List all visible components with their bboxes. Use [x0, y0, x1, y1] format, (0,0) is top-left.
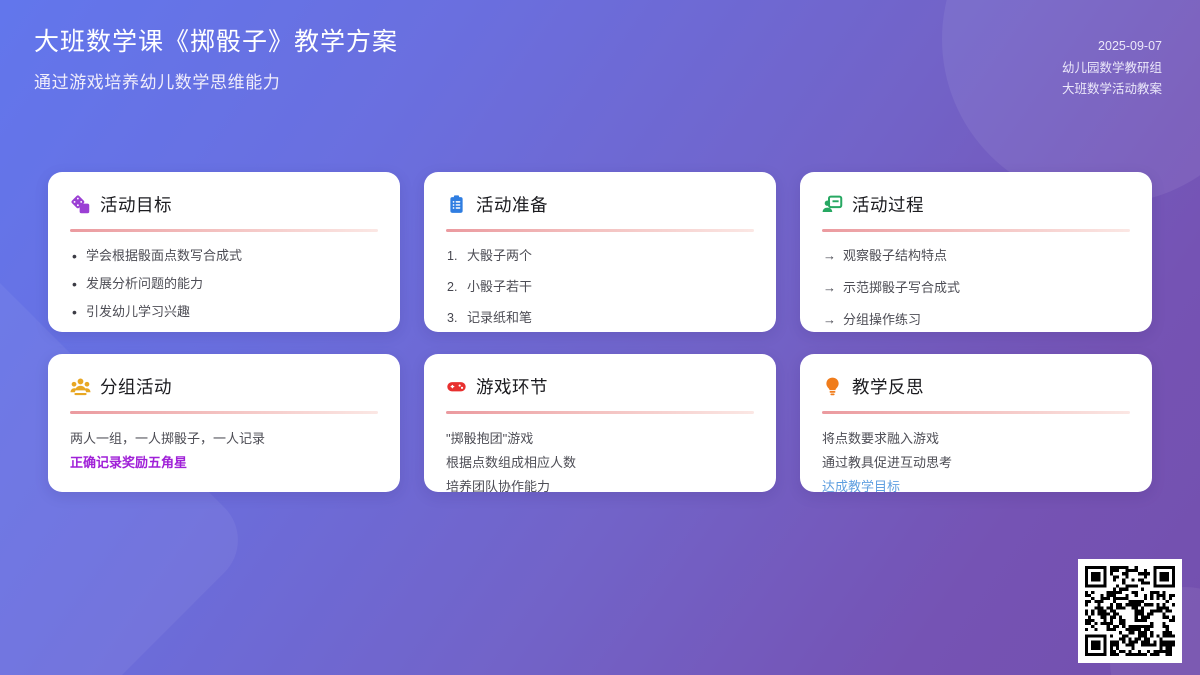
card-header: 活动过程 [822, 192, 1130, 217]
card-list: 将点数要求融入游戏通过教具促进互动思考达成教学目标 [822, 429, 1130, 492]
card-title: 活动过程 [852, 192, 924, 217]
list-item: 大骰子两个 [446, 247, 754, 266]
card-body: 将点数要求融入游戏通过教具促进互动思考达成教学目标 [822, 429, 1130, 492]
list-item: 小骰子若干 [446, 278, 754, 297]
card-list: 两人一组，一人掷骰子，一人记录正确记录奖励五角星 [70, 429, 378, 473]
list-item: 通过教具促进互动思考 [822, 453, 1130, 473]
list-item: 发展分析问题的能力 [70, 275, 378, 294]
card-grid: 活动目标学会根据骰面点数写合成式发展分析问题的能力引发幼儿学习兴趣活动准备大骰子… [48, 172, 1152, 492]
card-list: "掷骰抱团"游戏根据点数组成相应人数培养团队协作能力 [446, 429, 754, 492]
list-item: 培养团队协作能力 [446, 477, 754, 492]
card-title: 教学反思 [852, 374, 924, 399]
list-item: 正确记录奖励五角星 [70, 453, 378, 473]
card-3: 活动过程观察骰子结构特点示范掷骰子写合成式分组操作练习 [800, 172, 1152, 332]
list-item: "掷骰抱团"游戏 [446, 429, 754, 449]
card-divider [446, 411, 754, 414]
card-body: 学会根据骰面点数写合成式发展分析问题的能力引发幼儿学习兴趣 [70, 247, 378, 322]
card-divider [822, 229, 1130, 232]
header-date: 2025-09-07 [1062, 36, 1162, 58]
list-item: 将点数要求融入游戏 [822, 429, 1130, 449]
card-header: 分组活动 [70, 374, 378, 399]
list-item: 达成教学目标 [822, 477, 1130, 492]
card-list: 观察骰子结构特点示范掷骰子写合成式分组操作练习 [822, 247, 1130, 330]
card-divider [70, 411, 378, 414]
people-group-icon [70, 376, 91, 397]
lightbulb-icon [822, 376, 843, 397]
list-item: 记录纸和笔 [446, 309, 754, 328]
dice-icon [70, 194, 91, 215]
page-subtitle: 通过游戏培养幼儿数学思维能力 [34, 68, 398, 93]
qr-code-image [1085, 566, 1175, 656]
card-title: 活动准备 [476, 192, 548, 217]
header-org: 幼儿园数学教研组 [1062, 58, 1162, 80]
card-body: 两人一组，一人掷骰子，一人记录正确记录奖励五角星 [70, 429, 378, 473]
qr-code[interactable] [1078, 559, 1182, 663]
card-body: 观察骰子结构特点示范掷骰子写合成式分组操作练习 [822, 247, 1130, 330]
list-item: 学会根据骰面点数写合成式 [70, 247, 378, 266]
card-divider [446, 229, 754, 232]
clipboard-icon [446, 194, 467, 215]
card-6: 教学反思将点数要求融入游戏通过教具促进互动思考达成教学目标 [800, 354, 1152, 492]
list-item: 观察骰子结构特点 [822, 247, 1130, 266]
list-item: 根据点数组成相应人数 [446, 453, 754, 473]
card-title: 游戏环节 [476, 374, 548, 399]
list-item: 引发幼儿学习兴趣 [70, 303, 378, 322]
card-divider [70, 229, 378, 232]
header-doc-type: 大班数学活动教案 [1062, 79, 1162, 101]
card-header: 教学反思 [822, 374, 1130, 399]
card-list: 学会根据骰面点数写合成式发展分析问题的能力引发幼儿学习兴趣 [70, 247, 378, 322]
card-title: 活动目标 [100, 192, 172, 217]
list-item: 分组操作练习 [822, 311, 1130, 330]
header-meta: 2025-09-07 幼儿园数学教研组 大班数学活动教案 [1062, 26, 1166, 101]
card-title: 分组活动 [100, 374, 172, 399]
card-header: 游戏环节 [446, 374, 754, 399]
slide-header: 大班数学课《掷骰子》教学方案 通过游戏培养幼儿数学思维能力 2025-09-07… [0, 0, 1200, 150]
card-header: 活动准备 [446, 192, 754, 217]
card-5: 游戏环节"掷骰抱团"游戏根据点数组成相应人数培养团队协作能力 [424, 354, 776, 492]
gamepad-icon [446, 376, 467, 397]
card-body: 大骰子两个小骰子若干记录纸和笔 [446, 247, 754, 328]
presentation-icon [822, 194, 843, 215]
list-item: 两人一组，一人掷骰子，一人记录 [70, 429, 378, 449]
title-block: 大班数学课《掷骰子》教学方案 通过游戏培养幼儿数学思维能力 [34, 26, 398, 93]
card-body: "掷骰抱团"游戏根据点数组成相应人数培养团队协作能力 [446, 429, 754, 492]
card-2: 活动准备大骰子两个小骰子若干记录纸和笔 [424, 172, 776, 332]
list-item: 示范掷骰子写合成式 [822, 279, 1130, 298]
card-header: 活动目标 [70, 192, 378, 217]
page-title: 大班数学课《掷骰子》教学方案 [34, 26, 398, 59]
card-4: 分组活动两人一组，一人掷骰子，一人记录正确记录奖励五角星 [48, 354, 400, 492]
card-list: 大骰子两个小骰子若干记录纸和笔 [446, 247, 754, 328]
card-divider [822, 411, 1130, 414]
card-1: 活动目标学会根据骰面点数写合成式发展分析问题的能力引发幼儿学习兴趣 [48, 172, 400, 332]
